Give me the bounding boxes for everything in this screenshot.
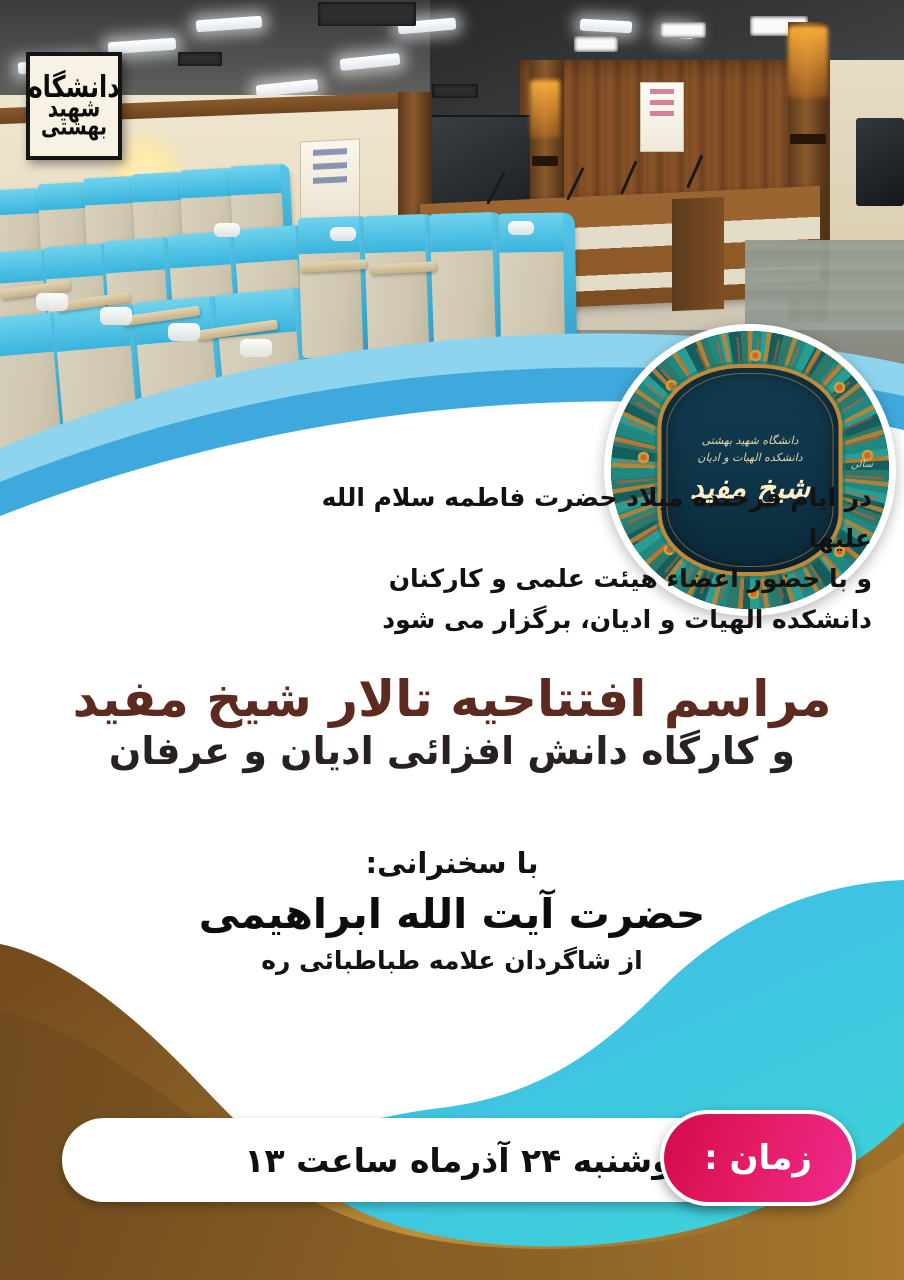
wall-sconce-glow bbox=[530, 80, 560, 138]
wall-notice-poster bbox=[640, 82, 684, 152]
medallion-flower bbox=[637, 451, 650, 464]
ceiling-vent bbox=[318, 2, 416, 26]
ceiling-vent bbox=[660, 22, 706, 38]
logo-line-3: بهشتی bbox=[41, 116, 107, 139]
seat-cover-pack bbox=[36, 293, 68, 311]
event-title-block: مراسم افتتاحیه تالار شیخ مفید و کارگاه د… bbox=[0, 672, 904, 774]
seat-cover-pack bbox=[214, 223, 240, 237]
ceiling-vent bbox=[432, 84, 478, 98]
event-date-text: دوشنبه ۲۴ آذرماه ساعت ۱۳ bbox=[134, 1141, 689, 1180]
seat-cover-pack bbox=[508, 221, 534, 235]
university-logo: دانشگاه شهید بهشتی bbox=[26, 52, 122, 160]
time-label-badge: زمان : bbox=[660, 1110, 856, 1206]
wall-sconce-body bbox=[790, 134, 826, 144]
intro-paragraph: در ایام فرخنده میلاد حضرت فاطمه سلام الل… bbox=[312, 478, 872, 640]
time-label-text: زمان : bbox=[704, 1138, 812, 1178]
seat-cover-pack bbox=[330, 227, 356, 241]
intro-line-1: در ایام فرخنده میلاد حضرت فاطمه سلام الل… bbox=[312, 478, 872, 559]
event-title-primary: مراسم افتتاحیه تالار شیخ مفید bbox=[0, 672, 904, 726]
podium bbox=[672, 197, 724, 311]
medallion-university-line: دانشگاه شهید بهشتی bbox=[662, 434, 838, 447]
event-title-secondary: و کارگاه دانش افزائی ادیان و عرفان bbox=[0, 730, 904, 774]
event-poster: دانشگاه شهید بهشتی دانشکده الهیات و ادیا… bbox=[0, 0, 904, 1280]
medallion-flower bbox=[833, 381, 846, 394]
event-date-bar: دوشنبه ۲۴ آذرماه ساعت ۱۳ bbox=[62, 1118, 762, 1202]
ceiling-vent bbox=[178, 52, 222, 66]
medallion-hall-prefix: سالن bbox=[851, 459, 873, 470]
intro-line-2: و با حضور اعضاء هیئت علمی و کارکنان bbox=[312, 559, 872, 600]
intro-line-3: دانشکده الهیات و ادیان، برگزار می شود bbox=[312, 600, 872, 641]
ceiling-vent bbox=[574, 36, 618, 52]
bottom-wave-section bbox=[0, 860, 904, 1280]
seat-cover-pack bbox=[100, 307, 132, 325]
wall-tv-right bbox=[856, 118, 904, 206]
wall-sconce-glow bbox=[788, 26, 828, 98]
university-logo-calligraphy: دانشگاه شهید بهشتی bbox=[30, 56, 118, 156]
medallion-flower bbox=[749, 349, 762, 362]
medallion-faculty-line: دانشکده الهیات و ادیان bbox=[662, 451, 838, 464]
